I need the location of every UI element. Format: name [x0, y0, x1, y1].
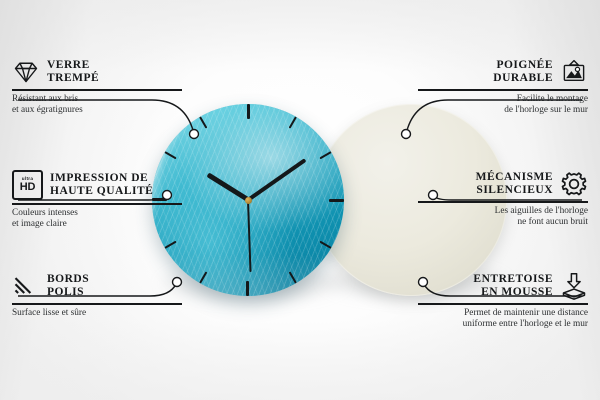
- callout-rule: [418, 201, 588, 203]
- callout-title: POIGNÉEDURABLE: [418, 59, 553, 84]
- callout-title: BORDSPOLIS: [47, 273, 182, 298]
- callout-header: ultra HD IMPRESSION DEHAUTE QUALITÉ: [12, 170, 182, 200]
- callout-title: VERRETREMPÉ: [47, 59, 182, 84]
- callout-title: ENTRETOISEEN MOUSSE: [418, 273, 553, 298]
- badge-hd-text: HD: [20, 182, 36, 193]
- foam-spacer-icon: [560, 272, 588, 300]
- callout-entretoise-en-mousse: ENTRETOISEEN MOUSSE Permet de maintenir …: [418, 272, 588, 330]
- hands-hub: [245, 197, 252, 204]
- callout-header: ENTRETOISEEN MOUSSE: [418, 272, 588, 300]
- callout-title: MÉCANISMESILENCIEUX: [418, 171, 553, 196]
- callout-poignee-durable: POIGNÉEDURABLE Facilite le montagede l'h…: [418, 58, 588, 116]
- callout-verre-trempe: VERRETREMPÉ Résistant aux briset aux égr…: [12, 58, 182, 116]
- polished-edges-icon: [12, 272, 40, 300]
- callout-description: Surface lisse et sûre: [12, 308, 182, 319]
- callout-header: MÉCANISMESILENCIEUX: [418, 170, 588, 198]
- callout-rule: [12, 89, 182, 91]
- callout-rule: [418, 89, 588, 91]
- gear-icon: [560, 170, 588, 198]
- callout-bords-polis: BORDSPOLIS Surface lisse et sûre: [12, 272, 182, 319]
- callout-header: POIGNÉEDURABLE: [418, 58, 588, 86]
- callout-header: VERRETREMPÉ: [12, 58, 182, 86]
- callout-description: Les aiguilles de l'horlogene font aucun …: [418, 206, 588, 228]
- diamond-icon: [12, 58, 40, 86]
- callout-impression-haute-qualite: ultra HD IMPRESSION DEHAUTE QUALITÉ Coul…: [12, 170, 182, 230]
- callout-rule: [418, 303, 588, 305]
- callout-title: IMPRESSION DEHAUTE QUALITÉ: [50, 172, 182, 197]
- callout-description: Résistant aux briset aux égratignures: [12, 94, 182, 116]
- callout-description: Facilite le montagede l'horloge sur le m…: [418, 94, 588, 116]
- product-infographic: VERRETREMPÉ Résistant aux briset aux égr…: [0, 0, 600, 400]
- hanging-frame-icon: [560, 58, 588, 86]
- callout-rule: [12, 303, 182, 305]
- ultra-hd-badge-icon: ultra HD: [12, 170, 43, 200]
- callout-description: Couleurs intenseset image claire: [12, 208, 182, 230]
- callout-mecanisme-silencieux: MÉCANISMESILENCIEUX Les aiguilles de l'h…: [418, 170, 588, 228]
- callout-description: Permet de maintenir une distanceuniforme…: [418, 308, 588, 330]
- callout-header: BORDSPOLIS: [12, 272, 182, 300]
- callout-rule: [12, 203, 182, 205]
